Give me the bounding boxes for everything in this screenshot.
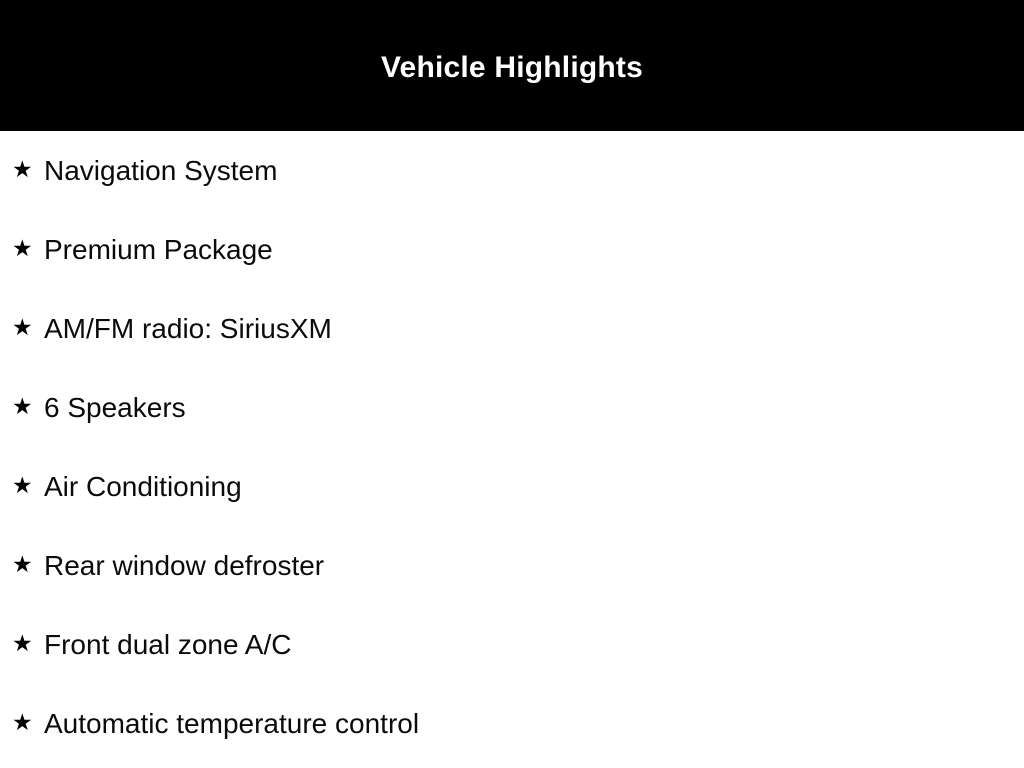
highlight-label: 6 Speakers — [44, 392, 186, 424]
list-item: ★ Automatic temperature control — [0, 684, 1024, 763]
list-item: ★ Rear window defroster — [0, 526, 1024, 605]
star-icon: ★ — [12, 237, 34, 260]
highlight-label: Navigation System — [44, 155, 277, 187]
highlight-label: Rear window defroster — [44, 550, 324, 582]
star-icon: ★ — [12, 632, 34, 655]
page-header: Vehicle Highlights — [0, 0, 1024, 131]
highlight-label: Premium Package — [44, 234, 273, 266]
star-icon: ★ — [12, 316, 34, 339]
list-item: ★ 6 Speakers — [0, 368, 1024, 447]
star-icon: ★ — [12, 553, 34, 576]
highlight-label: Front dual zone A/C — [44, 629, 291, 661]
list-item: ★ Navigation System — [0, 131, 1024, 210]
vehicle-highlights-list: ★ Navigation System ★ Premium Package ★ … — [0, 131, 1024, 763]
list-item: ★ Front dual zone A/C — [0, 605, 1024, 684]
highlight-label: Air Conditioning — [44, 471, 242, 503]
highlight-label: Automatic temperature control — [44, 708, 419, 740]
page-title: Vehicle Highlights — [381, 51, 643, 85]
list-item: ★ Air Conditioning — [0, 447, 1024, 526]
star-icon: ★ — [12, 711, 34, 734]
vehicle-highlights-page: Vehicle Highlights ★ Navigation System ★… — [0, 0, 1024, 768]
star-icon: ★ — [12, 158, 34, 181]
list-item: ★ AM/FM radio: SiriusXM — [0, 289, 1024, 368]
star-icon: ★ — [12, 395, 34, 418]
star-icon: ★ — [12, 474, 34, 497]
list-item: ★ Premium Package — [0, 210, 1024, 289]
highlight-label: AM/FM radio: SiriusXM — [44, 313, 332, 345]
